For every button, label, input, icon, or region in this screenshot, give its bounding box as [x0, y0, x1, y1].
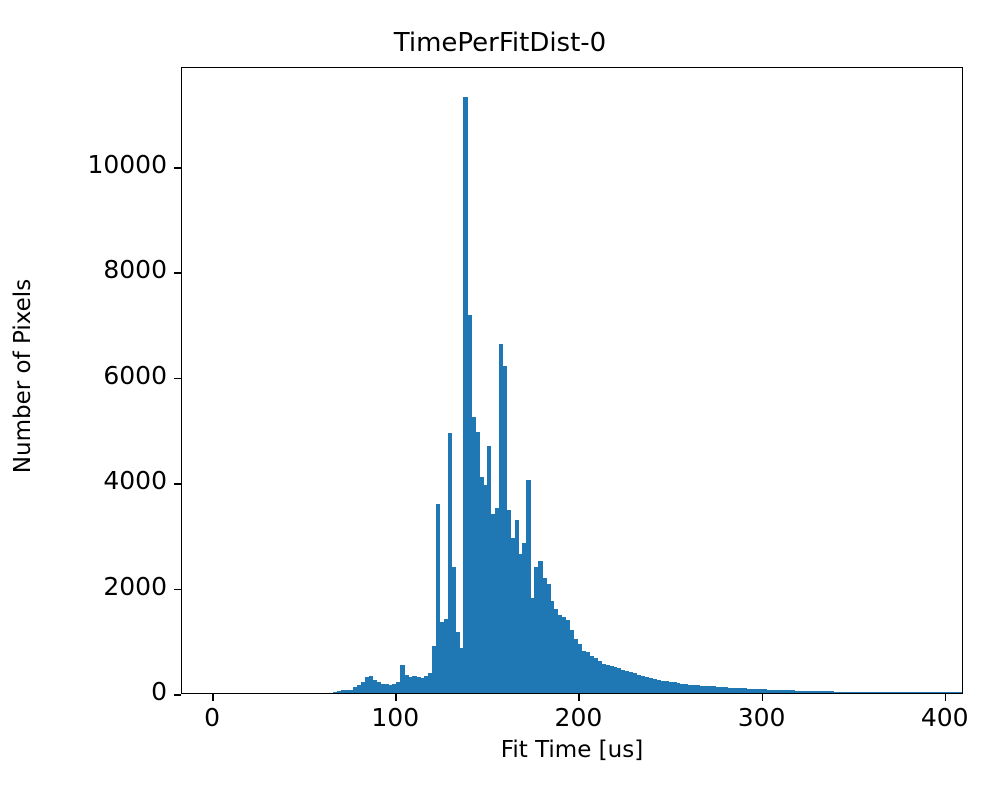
plot-area	[181, 67, 963, 694]
chart-figure: TimePerFitDist-0 01002003004000200040006…	[0, 0, 1000, 800]
x-tick-mark	[762, 694, 764, 701]
x-tick-label: 300	[722, 703, 802, 732]
y-axis-label: Number of Pixels	[10, 6, 36, 746]
x-tick-label: 200	[538, 703, 618, 732]
y-tick-mark	[174, 694, 181, 696]
x-tick-mark	[945, 694, 947, 701]
chart-title: TimePerFitDist-0	[0, 28, 1000, 58]
x-tick-label: 0	[172, 703, 252, 732]
x-tick-label: 100	[355, 703, 435, 732]
y-tick-mark	[174, 483, 181, 485]
y-tick-mark	[174, 589, 181, 591]
y-tick-mark	[174, 167, 181, 169]
x-tick-label: 400	[905, 703, 985, 732]
histogram-bars	[182, 68, 962, 693]
y-tick-mark	[174, 272, 181, 274]
x-tick-mark	[212, 694, 214, 701]
x-tick-mark	[395, 694, 397, 701]
x-tick-mark	[578, 694, 580, 701]
x-axis-label: Fit Time [us]	[181, 737, 963, 763]
histogram-bar	[959, 692, 963, 693]
y-tick-mark	[174, 378, 181, 380]
